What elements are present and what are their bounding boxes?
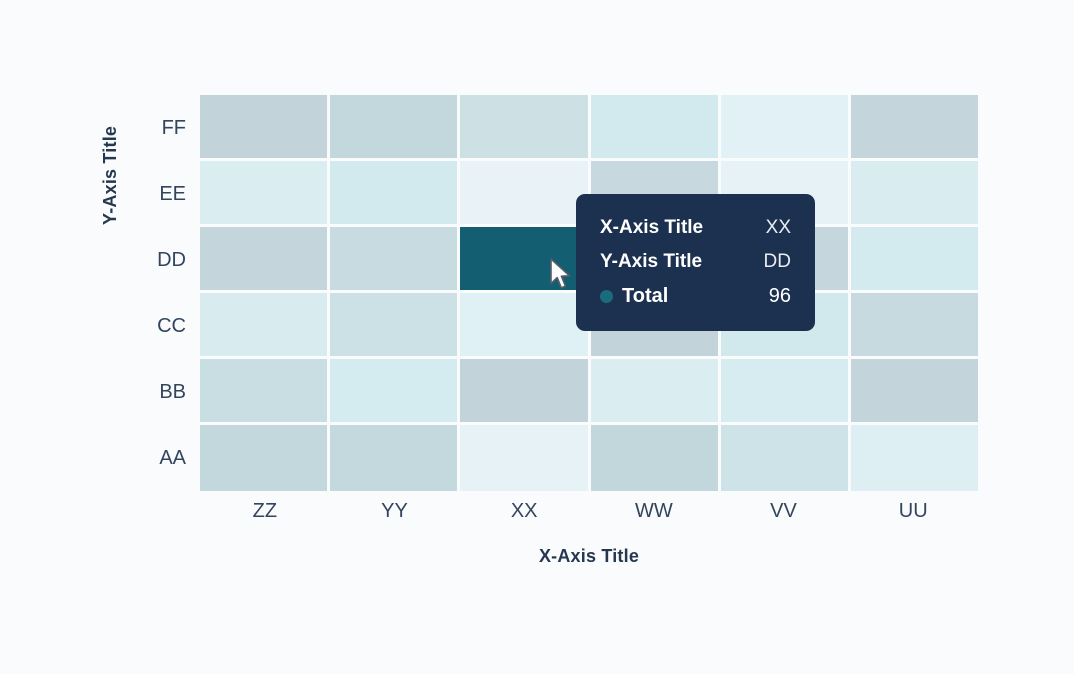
x-axis-tick-yy: YY: [330, 500, 460, 523]
heatmap-cell-vv-aa[interactable]: [721, 425, 851, 491]
heatmap-cell-ww-bb[interactable]: [591, 359, 721, 425]
heatmap-cell-uu-dd[interactable]: [851, 227, 978, 293]
x-axis-tick-zz: ZZ: [200, 500, 330, 523]
heatmap-cell-vv-ff[interactable]: [721, 95, 851, 161]
tooltip-row-y: Y-Axis Title DD: [600, 245, 791, 279]
series-color-dot-icon: [600, 290, 613, 303]
x-axis-tick-xx: XX: [459, 500, 589, 523]
heatmap-cell-yy-bb[interactable]: [330, 359, 460, 425]
y-axis-tick-cc: CC: [116, 315, 186, 337]
y-axis-tick-ee: EE: [116, 183, 186, 205]
heatmap-cell-xx-cc[interactable]: [460, 293, 590, 359]
x-axis-tick-ww: WW: [589, 500, 719, 523]
y-axis-tick-bb: BB: [116, 381, 186, 403]
heatmap-cell-uu-ee[interactable]: [851, 161, 978, 227]
tooltip-metric-value: 96: [755, 285, 791, 308]
x-axis-tick-uu: UU: [848, 500, 978, 523]
tooltip-x-value: XX: [752, 217, 791, 239]
heatmap-row-aa: [200, 425, 978, 491]
heatmap-cell-ww-ff[interactable]: [591, 95, 721, 161]
heatmap-cell-xx-ff[interactable]: [460, 95, 590, 161]
y-axis-tick-ff: FF: [116, 117, 186, 139]
heatmap-cell-zz-ee[interactable]: [200, 161, 330, 227]
heatmap-cell-uu-ff[interactable]: [851, 95, 978, 161]
heatmap-row-ff: [200, 95, 978, 161]
tooltip-row-metric: Total 96: [600, 279, 791, 313]
y-axis-tick-dd: DD: [116, 249, 186, 271]
heatmap-cell-zz-ff[interactable]: [200, 95, 330, 161]
x-axis-tick-labels: ZZYYXXWWVVUU: [200, 500, 978, 523]
heatmap-cell-zz-bb[interactable]: [200, 359, 330, 425]
heatmap-tooltip: X-Axis Title XX Y-Axis Title DD Total 96: [576, 194, 815, 331]
heatmap-chart: Y-Axis Title FFEEDDCCBBAA ZZYYXXWWVVUU X…: [0, 0, 1074, 674]
tooltip-y-label: Y-Axis Title: [600, 251, 702, 273]
x-axis-tick-vv: VV: [719, 500, 849, 523]
heatmap-cell-yy-ee[interactable]: [330, 161, 460, 227]
heatmap-cell-yy-aa[interactable]: [330, 425, 460, 491]
heatmap-cell-zz-aa[interactable]: [200, 425, 330, 491]
heatmap-cell-yy-dd[interactable]: [330, 227, 460, 293]
tooltip-row-x: X-Axis Title XX: [600, 211, 791, 245]
heatmap-cell-xx-bb[interactable]: [460, 359, 590, 425]
y-axis-tick-labels: FFEEDDCCBBAA: [116, 95, 186, 491]
heatmap-cell-yy-ff[interactable]: [330, 95, 460, 161]
y-axis-tick-aa: AA: [116, 447, 186, 469]
heatmap-cell-xx-dd[interactable]: [460, 227, 590, 293]
heatmap-cell-zz-cc[interactable]: [200, 293, 330, 359]
heatmap-cell-uu-aa[interactable]: [851, 425, 978, 491]
heatmap-cell-xx-aa[interactable]: [460, 425, 590, 491]
heatmap-cell-zz-dd[interactable]: [200, 227, 330, 293]
heatmap-cell-vv-bb[interactable]: [721, 359, 851, 425]
heatmap-cell-uu-bb[interactable]: [851, 359, 978, 425]
tooltip-metric-label: Total: [622, 285, 668, 308]
x-axis-title: X-Axis Title: [200, 546, 978, 567]
heatmap-cell-ww-aa[interactable]: [591, 425, 721, 491]
tooltip-x-label: X-Axis Title: [600, 217, 703, 239]
heatmap-row-bb: [200, 359, 978, 425]
heatmap-cell-xx-ee[interactable]: [460, 161, 590, 227]
heatmap-cell-uu-cc[interactable]: [851, 293, 978, 359]
heatmap-cell-yy-cc[interactable]: [330, 293, 460, 359]
tooltip-y-value: DD: [750, 251, 791, 273]
